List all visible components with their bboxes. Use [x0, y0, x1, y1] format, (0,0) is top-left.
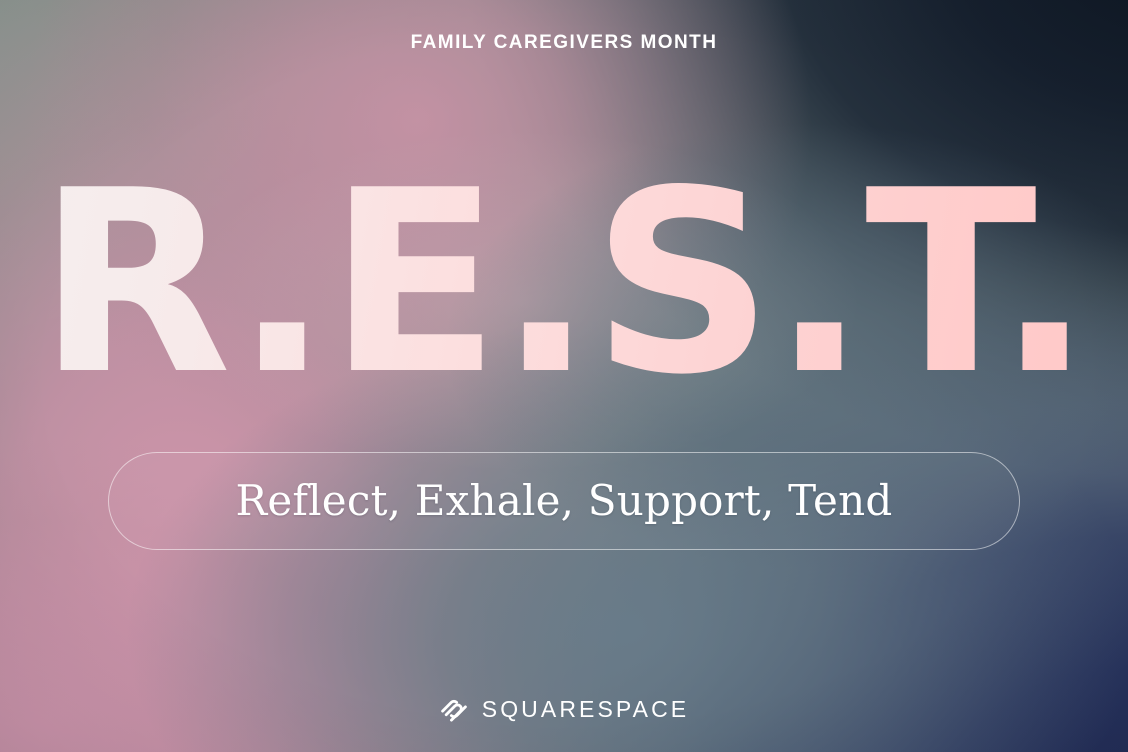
brand-wordmark: SQUARESPACE [482, 698, 690, 721]
page-title: R.E.S.T. [38, 176, 1091, 393]
poster-content: FAMILY CAREGIVERS MONTH R.E.S.T. Reflect… [0, 0, 1128, 752]
poster-canvas: FAMILY CAREGIVERS MONTH R.E.S.T. Reflect… [0, 0, 1128, 752]
squarespace-logo-icon [439, 694, 469, 724]
subtitle-text: Reflect, Exhale, Support, Tend [236, 480, 893, 522]
headline-container: R.E.S.T. [0, 176, 1128, 393]
eyebrow-label: FAMILY CAREGIVERS MONTH [411, 33, 718, 52]
subtitle-pill: Reflect, Exhale, Support, Tend [108, 452, 1020, 550]
brand-footer: SQUARESPACE [0, 694, 1128, 724]
